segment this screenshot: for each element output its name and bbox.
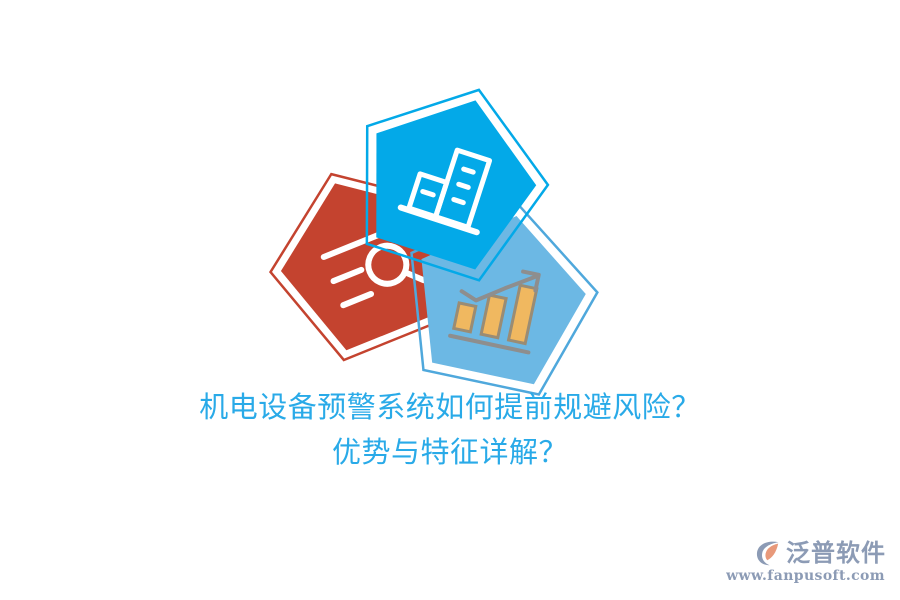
page-title-line-2: 优势与特征详解？ (0, 430, 900, 475)
brand-url: www.fanpusoft.com (726, 568, 885, 584)
page-canvas: 机电设备预警系统如何提前规避风险？ 优势与特征详解？ 泛普软件 www.fanp… (0, 0, 900, 600)
page-title: 机电设备预警系统如何提前规避风险？ 优势与特征详解？ (0, 385, 900, 475)
page-title-line-1: 机电设备预警系统如何提前规避风险？ (0, 385, 900, 430)
brand-logo-row: 泛普软件 (754, 539, 886, 567)
brand-name: 泛普软件 (786, 540, 886, 566)
brand-watermark: 泛普软件 www.fanpusoft.com (726, 539, 886, 584)
fanpusoft-logo-mark (754, 539, 782, 567)
pentagon-graphic-cluster (270, 85, 600, 385)
building-window (423, 192, 433, 195)
building-window (464, 169, 474, 172)
blue-pentagon-building (270, 85, 600, 385)
building-window (459, 184, 469, 187)
building-window (454, 200, 464, 203)
